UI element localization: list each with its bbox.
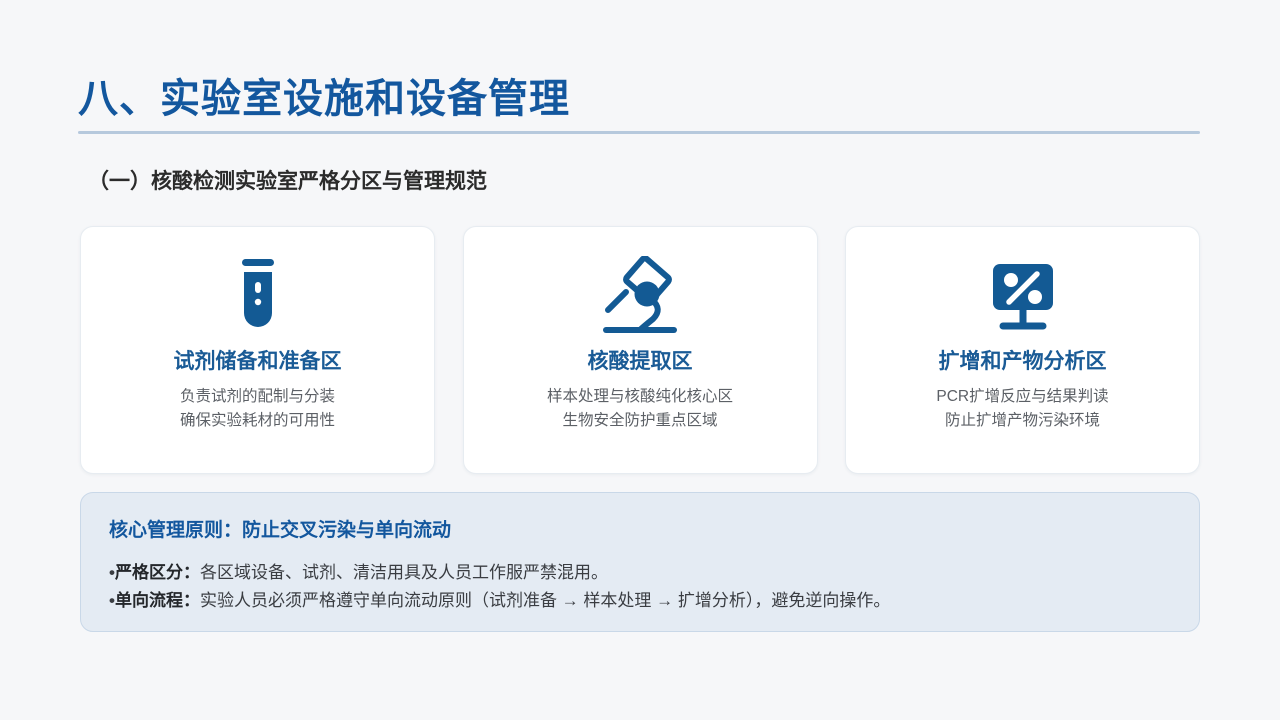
zone-card-desc-line-1: 负责试剂的配制与分装 [180,385,335,409]
zone-card-desc-line-1: PCR扩增反应与结果判读 [936,385,1108,409]
zone-card-title: 扩增和产物分析区 [939,349,1107,374]
zone-card-title: 试剂储备和准备区 [174,349,342,374]
section-subtitle: （一）核酸检测实验室严格分区与管理规范 [88,165,487,195]
title-divider [78,131,1200,134]
list-item-text: 实验人员必须严格遵守单向流动原则（试剂准备 → 样本处理 → 扩增分析），避免逆… [200,591,890,610]
zone-card-reagent-prep[interactable]: 试剂储备和准备区 负责试剂的配制与分装 确保实验耗材的可用性 [80,226,435,474]
list-item-text: 各区域设备、试剂、清洁用具及人员工作服严禁混用。 [200,563,608,582]
core-principle-title: 核心管理原则：防止交叉污染与单向流动 [109,515,1171,542]
monitor-percent-icon [975,255,1071,341]
zone-card-amplification[interactable]: 扩增和产物分析区 PCR扩增反应与结果判读 防止扩增产物污染环境 [845,226,1200,474]
list-item: •严格区分：各区域设备、试剂、清洁用具及人员工作服严禁混用。 [109,559,1171,587]
core-principle-panel: 核心管理原则：防止交叉污染与单向流动 •严格区分：各区域设备、试剂、清洁用具及人… [80,492,1200,632]
zone-card-description: 负责试剂的配制与分装 确保实验耗材的可用性 [180,385,335,433]
list-item-label: 单向流程： [115,591,200,610]
zone-card-title: 核酸提取区 [588,349,693,374]
page-title: 八、实验室设施和设备管理 [78,66,570,124]
zone-card-description: PCR扩增反应与结果判读 防止扩增产物污染环境 [936,385,1108,433]
zone-card-desc-line-2: 生物安全防护重点区域 [547,409,733,433]
vial-icon [222,255,294,341]
zone-cards-row: 试剂储备和准备区 负责试剂的配制与分装 确保实验耗材的可用性 核酸提取区 样本处… [80,226,1200,474]
list-item: •单向流程：实验人员必须严格遵守单向流动原则（试剂准备 → 样本处理 → 扩增分… [109,587,1171,615]
zone-card-desc-line-2: 防止扩增产物污染环境 [936,409,1108,433]
microscope-icon [592,255,688,341]
list-item-label: 严格区分： [115,563,200,582]
zone-card-desc-line-2: 确保实验耗材的可用性 [180,409,335,433]
zone-card-desc-line-1: 样本处理与核酸纯化核心区 [547,385,733,409]
core-principle-list: •严格区分：各区域设备、试剂、清洁用具及人员工作服严禁混用。 •单向流程：实验人… [109,559,1171,615]
zone-card-description: 样本处理与核酸纯化核心区 生物安全防护重点区域 [547,385,733,433]
zone-card-extraction[interactable]: 核酸提取区 样本处理与核酸纯化核心区 生物安全防护重点区域 [463,226,818,474]
